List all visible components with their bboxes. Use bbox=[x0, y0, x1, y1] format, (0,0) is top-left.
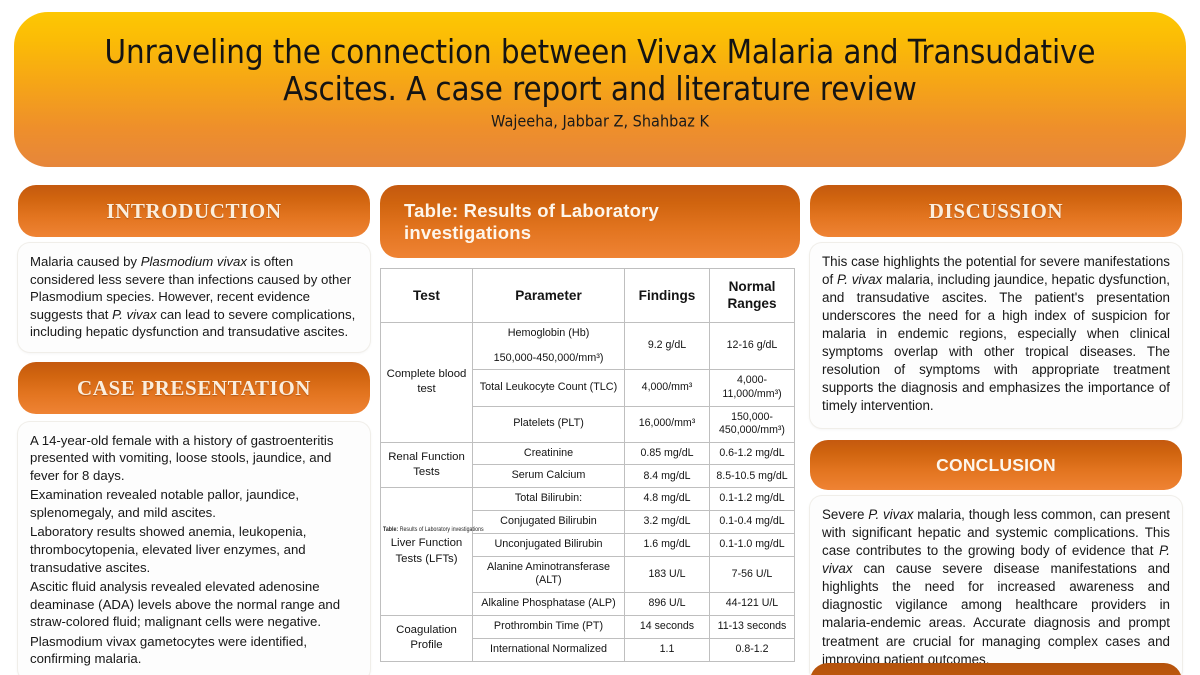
case-paragraph-1: A 14-year-old female with a history of g… bbox=[30, 432, 358, 485]
cell-findings: 8.4 mg/dL bbox=[625, 465, 710, 488]
cell-findings: 1.1 bbox=[625, 638, 710, 661]
cell-normal-range: 12-16 g/dL bbox=[710, 322, 795, 370]
cell-parameter: Serum Calcium bbox=[473, 465, 625, 488]
cell-parameter: Unconjugated Bilirubin bbox=[473, 533, 625, 556]
cell-parameter: Alanine Aminotransferase (ALT) bbox=[473, 556, 625, 593]
case-paragraph-4: Ascitic fluid analysis revealed elevated… bbox=[30, 578, 358, 631]
cell-normal-range: 150,000-450,000/mm³) bbox=[710, 406, 795, 442]
case-paragraph-3: Laboratory results showed anemia, leukop… bbox=[30, 523, 358, 576]
table-header-row: Test Parameter Findings Normal Ranges bbox=[381, 269, 795, 323]
table-row: Coagulation Profile Prothrombin Time (PT… bbox=[381, 616, 795, 639]
cell-parameter: Creatinine bbox=[473, 442, 625, 465]
column-header-normal-ranges: Normal Ranges bbox=[710, 269, 795, 323]
cell-normal-range: 11-13 seconds bbox=[710, 616, 795, 639]
cell-findings: 14 seconds bbox=[625, 616, 710, 639]
cell-findings: 0.85 mg/dL bbox=[625, 442, 710, 465]
cell-parameter: International Normalized bbox=[473, 638, 625, 661]
cell-normal-range: 44-121 U/L bbox=[710, 593, 795, 616]
parameter-line-2: 150,000-450,000/mm³) bbox=[476, 352, 621, 366]
discussion-paragraph: This case highlights the potential for s… bbox=[822, 253, 1170, 415]
cell-normal-range: 0.1-1.2 mg/dL bbox=[710, 488, 795, 511]
parameter-line-1: Hemoglobin (Hb) bbox=[476, 327, 621, 341]
table-caption: Table: Results of Laboratory investigati… bbox=[383, 528, 501, 535]
discussion-card: This case highlights the potential for s… bbox=[810, 243, 1182, 428]
cell-findings: 4,000/mm³ bbox=[625, 370, 710, 406]
cell-normal-range: 0.1-0.4 mg/dL bbox=[710, 511, 795, 534]
lab-results-table: Test Parameter Findings Normal Ranges Co… bbox=[380, 268, 795, 662]
right-column: DISCUSSION This case highlights the pote… bbox=[810, 185, 1182, 675]
cell-findings: 4.8 mg/dL bbox=[625, 488, 710, 511]
column-header-parameter: Parameter bbox=[473, 269, 625, 323]
introduction-card: Malaria caused by Plasmodium vivax is of… bbox=[18, 243, 370, 352]
column-header-test: Test bbox=[381, 269, 473, 323]
table-row: Liver Function Tests (LFTs) Total Biliru… bbox=[381, 488, 795, 511]
table-caption-rest: Results of Laboratory investigations bbox=[398, 526, 483, 533]
cell-normal-range: 8.5-10.5 mg/dL bbox=[710, 465, 795, 488]
cell-parameter: Hemoglobin (Hb) 150,000-450,000/mm³) bbox=[473, 322, 625, 370]
table-row: Complete blood test Hemoglobin (Hb) 150,… bbox=[381, 322, 795, 370]
cell-findings: 896 U/L bbox=[625, 593, 710, 616]
cell-normal-range: 0.8-1.2 bbox=[710, 638, 795, 661]
cell-normal-range: 7-56 U/L bbox=[710, 556, 795, 593]
section-header-introduction: INTRODUCTION bbox=[18, 185, 370, 237]
cell-parameter: Total Bilirubin: bbox=[473, 488, 625, 511]
group-label-renal: Renal Function Tests bbox=[381, 442, 473, 488]
cell-normal-range: 4,000-11,000/mm³) bbox=[710, 370, 795, 406]
group-label-coagulation: Coagulation Profile bbox=[381, 616, 473, 662]
section-header-next-partial bbox=[810, 663, 1182, 675]
cell-findings: 1.6 mg/dL bbox=[625, 533, 710, 556]
cell-findings: 16,000/mm³ bbox=[625, 406, 710, 442]
section-header-table-title: Table: Results of Laboratory investigati… bbox=[380, 185, 800, 258]
conclusion-paragraph: Severe P. vivax malaria, though less com… bbox=[822, 506, 1170, 668]
middle-column: Table: Results of Laboratory investigati… bbox=[380, 185, 800, 662]
cell-normal-range: 0.1-1.0 mg/dL bbox=[710, 533, 795, 556]
cell-findings: 3.2 mg/dL bbox=[625, 511, 710, 534]
introduction-paragraph: Malaria caused by Plasmodium vivax is of… bbox=[30, 253, 358, 341]
cell-findings: 9.2 g/dL bbox=[625, 322, 710, 370]
section-header-conclusion: CONCLUSION bbox=[810, 440, 1182, 490]
group-label-liver: Liver Function Tests (LFTs) bbox=[381, 488, 473, 616]
poster-canvas: Unraveling the connection between Vivax … bbox=[0, 0, 1200, 675]
case-paragraph-2: Examination revealed notable pallor, jau… bbox=[30, 486, 358, 521]
group-label-cbc: Complete blood test bbox=[381, 322, 473, 442]
poster-title-banner: Unraveling the connection between Vivax … bbox=[14, 12, 1186, 167]
page-title: Unraveling the connection between Vivax … bbox=[74, 34, 1126, 109]
left-column: INTRODUCTION Malaria caused by Plasmodiu… bbox=[18, 185, 370, 675]
case-paragraph-5: Plasmodium vivax gametocytes were identi… bbox=[30, 633, 358, 668]
cell-findings: 183 U/L bbox=[625, 556, 710, 593]
table-caption-bold: Table: bbox=[383, 526, 398, 533]
conclusion-card: Severe P. vivax malaria, though less com… bbox=[810, 496, 1182, 675]
column-header-findings: Findings bbox=[625, 269, 710, 323]
cell-parameter: Prothrombin Time (PT) bbox=[473, 616, 625, 639]
table-row: Renal Function Tests Creatinine 0.85 mg/… bbox=[381, 442, 795, 465]
author-list: Wajeeha, Jabbar Z, Shahbaz K bbox=[74, 113, 1126, 131]
cell-parameter: Alkaline Phosphatase (ALP) bbox=[473, 593, 625, 616]
section-header-case-presentation: CASE PRESENTATION bbox=[18, 362, 370, 414]
cell-normal-range: 0.6-1.2 mg/dL bbox=[710, 442, 795, 465]
cell-parameter: Platelets (PLT) bbox=[473, 406, 625, 442]
section-header-discussion: DISCUSSION bbox=[810, 185, 1182, 237]
cell-parameter: Total Leukocyte Count (TLC) bbox=[473, 370, 625, 406]
case-presentation-card: A 14-year-old female with a history of g… bbox=[18, 422, 370, 675]
